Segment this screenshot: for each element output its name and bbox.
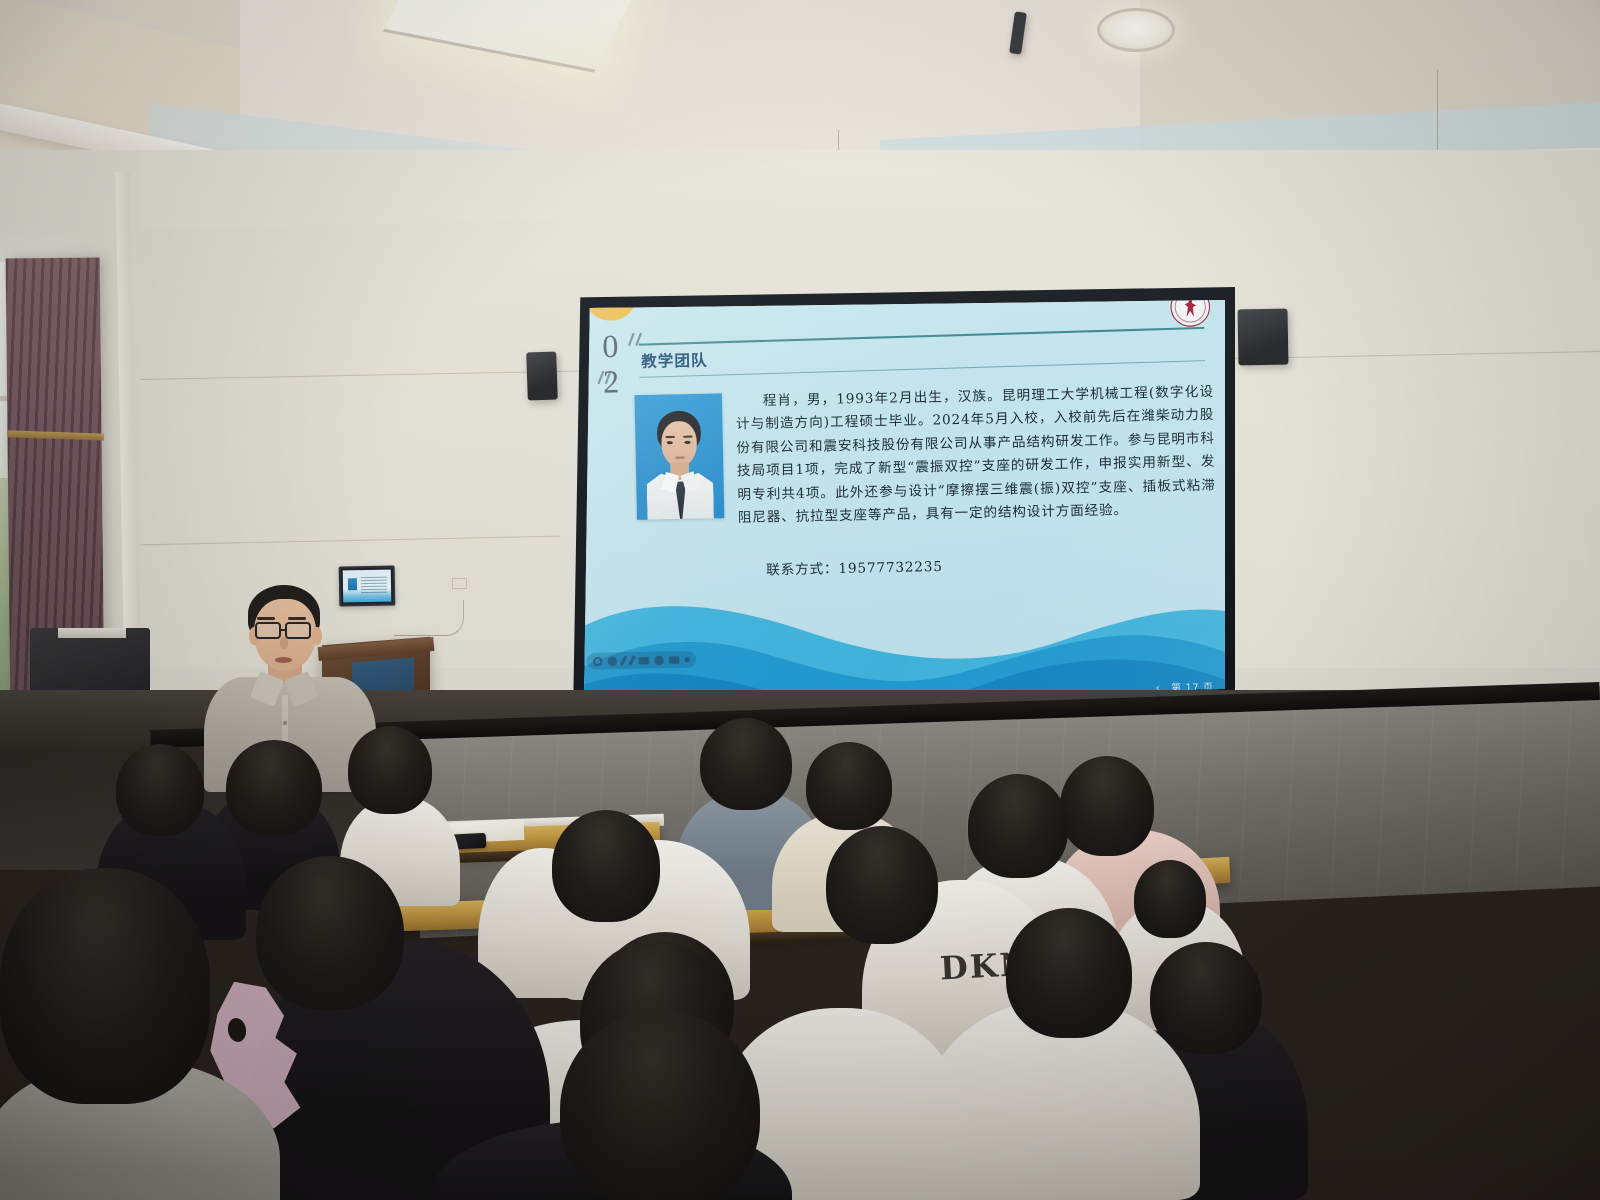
photo-mouth [675, 456, 684, 458]
pointer-icon[interactable] [607, 656, 617, 666]
subtitle-icon[interactable] [669, 656, 680, 663]
audience-member-head [1060, 756, 1154, 856]
photo-face [661, 421, 697, 467]
photo-eyebrow [683, 436, 692, 438]
slide-body-text: 程肖，男，1993年2月出生，汉族。昆明理工大学机械工程(数字化设计与制造方向)… [735, 381, 1216, 530]
audience-member-head [348, 726, 432, 814]
magnifier-icon[interactable] [654, 655, 664, 665]
presentation-screen[interactable]: 0 2 教学团队 [584, 300, 1225, 703]
more-options-icon[interactable] [684, 657, 689, 662]
presenter-ear [312, 627, 322, 645]
cabinet-top-device [58, 628, 126, 638]
photo-eyebrow [665, 436, 674, 438]
ceiling-round-light-icon [1097, 8, 1175, 52]
powerpoint-slide[interactable]: 0 2 教学团队 [584, 300, 1225, 703]
slide-view-icon[interactable] [639, 656, 650, 663]
audience-member-head [116, 744, 204, 836]
audience-member-head [1150, 942, 1262, 1054]
slide-body-paragraph: 程肖，男，1993年2月出生，汉族。昆明理工大学机械工程(数字化设计与制造方向)… [735, 381, 1216, 530]
section-number-bottom: 2 [603, 364, 620, 399]
wall-speaker-left [526, 351, 558, 400]
audience-member-head [826, 826, 938, 944]
slide-title: 教学团队 [641, 349, 708, 372]
audience-member-head [806, 742, 892, 830]
audience-member-head [1134, 860, 1206, 938]
laser-pointer-icon[interactable] [593, 656, 603, 666]
presenter-shirt-button [283, 721, 287, 725]
audience-member-head [552, 810, 660, 922]
university-emblem-icon [1170, 300, 1210, 327]
audience-member-head [256, 856, 404, 1010]
title-rule-top [639, 327, 1205, 346]
presenter-mouth [275, 657, 292, 663]
presenter-toolbar[interactable] [587, 651, 697, 670]
lecture-hall-scene: 0 2 教学团队 [0, 0, 1600, 1200]
presenter-eyebrow [288, 617, 306, 620]
eyeglasses-icon [255, 622, 281, 639]
eyeglasses-bridge [281, 629, 287, 631]
pen-icon[interactable] [620, 655, 628, 666]
highlighter-icon[interactable] [628, 655, 636, 666]
title-rule-bottom [639, 360, 1205, 378]
eyeglasses-icon [285, 622, 311, 639]
wall-speaker-right [1238, 309, 1289, 366]
audience-member-head [700, 718, 792, 810]
presenter-eyebrow [257, 617, 275, 620]
section-number-top: 0 [602, 329, 619, 364]
audience-member-head [1006, 908, 1132, 1038]
audience-member-head-foreground [0, 868, 210, 1104]
wall-outlet [452, 578, 467, 589]
teacher-id-photo [634, 393, 724, 520]
audience-member-head [226, 740, 322, 836]
presenter-nose [280, 637, 288, 649]
audience-member-head [968, 774, 1068, 878]
audience-member-head-foreground [560, 1010, 760, 1200]
monitor-cable [394, 600, 464, 636]
